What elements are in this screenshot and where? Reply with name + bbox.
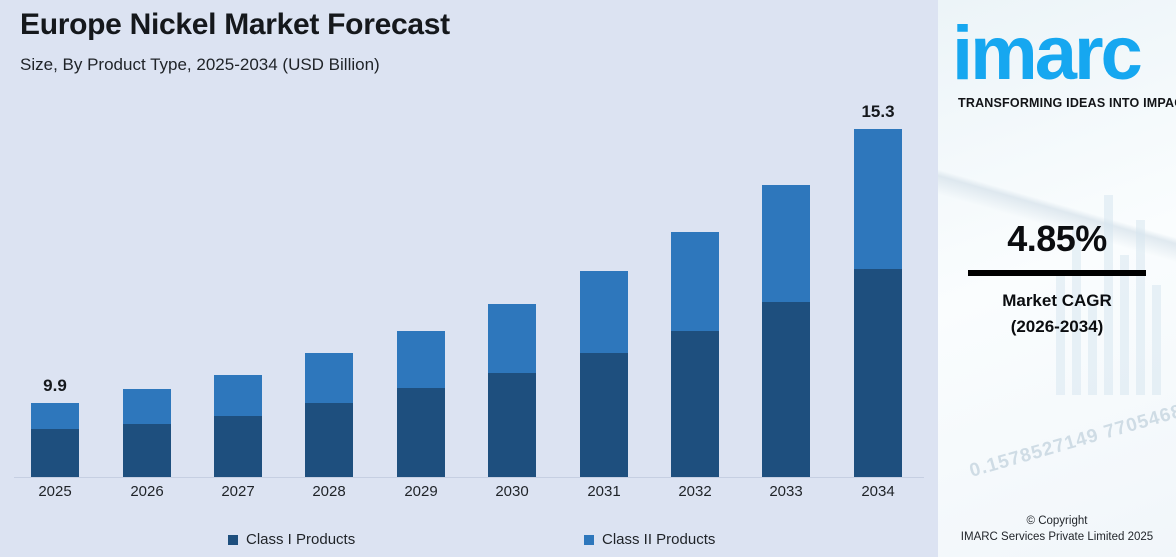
segment-class-ii-products[interactable] xyxy=(397,331,445,388)
cagr-period: (2026-2034) xyxy=(938,314,1176,340)
copyright-notice: © Copyright IMARC Services Private Limit… xyxy=(938,513,1176,545)
bar-stack xyxy=(397,331,445,477)
bar-value-label-2025: 9.9 xyxy=(5,376,105,396)
axis-baseline xyxy=(14,477,924,478)
bar-2033[interactable] xyxy=(762,185,810,477)
segment-class-ii-products[interactable] xyxy=(305,353,353,403)
segment-class-i-products[interactable] xyxy=(580,353,628,477)
bar-stack xyxy=(31,403,79,477)
segment-class-i-products[interactable] xyxy=(397,388,445,477)
cagr-label: Market CAGR xyxy=(938,288,1176,314)
x-tick-2033: 2033 xyxy=(736,483,836,500)
bar-2027[interactable] xyxy=(214,375,262,477)
x-tick-2028: 2028 xyxy=(279,483,379,500)
segment-class-ii-products[interactable] xyxy=(854,129,902,269)
bar-stack xyxy=(671,232,719,477)
bar-2029[interactable] xyxy=(397,331,445,477)
imarc-logo[interactable]: imarc TRANSFORMING IDEAS INTO IMPACT xyxy=(952,8,1176,104)
bar-2026[interactable] xyxy=(123,389,171,477)
segment-class-i-products[interactable] xyxy=(488,373,536,477)
cagr-value: 4.85% xyxy=(938,218,1176,260)
bar-stack xyxy=(580,271,628,477)
legend-label: Class I Products xyxy=(246,531,355,548)
segment-class-i-products[interactable] xyxy=(214,416,262,477)
page-subtitle: Size, By Product Type, 2025-2034 (USD Bi… xyxy=(20,55,380,75)
segment-class-i-products[interactable] xyxy=(123,424,171,477)
cagr-divider xyxy=(968,270,1146,276)
legend-item-class-i-products[interactable]: Class I Products xyxy=(228,531,355,548)
x-tick-2031: 2031 xyxy=(554,483,654,500)
segment-class-ii-products[interactable] xyxy=(214,375,262,416)
legend-swatch-icon xyxy=(228,535,238,545)
legend-label: Class II Products xyxy=(602,531,715,548)
segment-class-i-products[interactable] xyxy=(854,269,902,477)
segment-class-ii-products[interactable] xyxy=(762,185,810,302)
bar-2032[interactable] xyxy=(671,232,719,477)
segment-class-ii-products[interactable] xyxy=(123,389,171,424)
x-tick-2027: 2027 xyxy=(188,483,288,500)
copyright-line-1: © Copyright xyxy=(938,513,1176,529)
x-tick-2032: 2032 xyxy=(645,483,745,500)
bar-stack xyxy=(762,185,810,477)
bar-2030[interactable] xyxy=(488,304,536,477)
x-tick-2034: 2034 xyxy=(828,483,928,500)
x-tick-2029: 2029 xyxy=(371,483,471,500)
bar-2028[interactable] xyxy=(305,353,353,477)
bar-stack xyxy=(123,389,171,477)
bar-stack xyxy=(854,129,902,477)
page-title: Europe Nickel Market Forecast xyxy=(20,8,450,42)
segment-class-i-products[interactable] xyxy=(31,429,79,477)
segment-class-i-products[interactable] xyxy=(671,331,719,477)
x-tick-2026: 2026 xyxy=(97,483,197,500)
segment-class-ii-products[interactable] xyxy=(488,304,536,373)
chart-legend: Class I ProductsClass II Products xyxy=(0,528,938,557)
segment-class-ii-products[interactable] xyxy=(580,271,628,353)
bar-stack xyxy=(305,353,353,477)
logo-tagline: TRANSFORMING IDEAS INTO IMPACT xyxy=(958,96,1176,110)
segment-class-i-products[interactable] xyxy=(762,302,810,477)
logo-wordmark: imarc xyxy=(952,16,1140,92)
chart-panel: Europe Nickel Market Forecast Size, By P… xyxy=(0,0,938,557)
x-tick-2025: 2025 xyxy=(5,483,105,500)
legend-swatch-icon xyxy=(584,535,594,545)
segment-class-i-products[interactable] xyxy=(305,403,353,477)
brand-panel: 0.1578527149 7705468 imarc TRANSFORMING … xyxy=(938,0,1176,557)
bar-2025[interactable] xyxy=(31,403,79,477)
copyright-line-2: IMARC Services Private Limited 2025 xyxy=(938,529,1176,545)
bar-value-label-2034: 15.3 xyxy=(828,102,928,122)
cagr-callout: 4.85% Market CAGR (2026-2034) xyxy=(938,218,1176,340)
x-tick-2030: 2030 xyxy=(462,483,562,500)
legend-item-class-ii-products[interactable]: Class II Products xyxy=(584,531,715,548)
bar-2031[interactable] xyxy=(580,271,628,477)
segment-class-ii-products[interactable] xyxy=(31,403,79,429)
bar-2034[interactable] xyxy=(854,129,902,477)
segment-class-ii-products[interactable] xyxy=(671,232,719,331)
bar-stack xyxy=(488,304,536,477)
bar-stack xyxy=(214,375,262,477)
